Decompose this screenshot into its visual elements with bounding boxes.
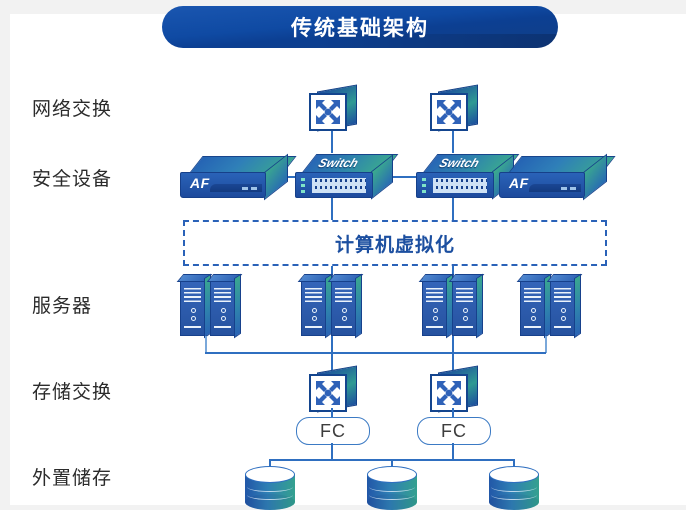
tower-indicator xyxy=(312,308,317,313)
switch-led xyxy=(301,184,305,187)
switch-led xyxy=(422,184,426,187)
tower-indicator xyxy=(531,316,536,321)
af-indicator-2 xyxy=(251,187,257,190)
fc-port-left[interactable]: FC xyxy=(296,417,370,445)
af-indicator-2 xyxy=(570,187,576,190)
row-label-server: 服务器 xyxy=(32,291,92,318)
tower-drive-bay xyxy=(184,326,201,328)
title-banner: 传统基础架构 xyxy=(162,6,558,48)
network-switch-icon xyxy=(432,95,466,129)
server-group-3[interactable] xyxy=(422,276,486,338)
external-storage-3[interactable] xyxy=(489,466,539,510)
network-switch-icon xyxy=(432,376,466,410)
disk-ring xyxy=(491,490,537,500)
tower-side xyxy=(234,274,241,339)
server-group-1[interactable] xyxy=(180,276,244,338)
core-switch-left[interactable] xyxy=(309,88,355,134)
connector-server-4-down xyxy=(545,336,547,353)
virtualization-box: 计算机虚拟化 xyxy=(183,220,607,266)
tower-drive-bay xyxy=(335,326,352,328)
server-storage-bus xyxy=(205,352,546,354)
switch-led-group xyxy=(301,178,305,196)
tower-indicator xyxy=(463,316,468,321)
tower-indicator xyxy=(221,308,226,313)
firewall-label: AF xyxy=(190,175,210,191)
tower-indicator xyxy=(531,308,536,313)
disk-top xyxy=(245,466,295,483)
switch-port-grid xyxy=(312,178,366,193)
server-group-2[interactable] xyxy=(301,276,365,338)
tower-vents xyxy=(184,285,201,302)
fc-label: FC xyxy=(441,421,467,442)
server-tower xyxy=(452,278,479,336)
switch-led-group xyxy=(422,178,426,196)
page-title: 传统基础架构 xyxy=(162,6,558,48)
server-group-4[interactable] xyxy=(520,276,584,338)
tower-indicator xyxy=(342,316,347,321)
external-storage-2[interactable] xyxy=(367,466,417,510)
tower-drive-bay xyxy=(214,326,231,328)
tower-indicator xyxy=(191,316,196,321)
tower-indicator xyxy=(433,316,438,321)
tower-vents xyxy=(426,285,443,302)
security-switch-left[interactable]: Switch xyxy=(295,154,391,202)
row-label-external-storage: 外置储存 xyxy=(32,463,112,490)
firewall-af-right[interactable]: AF xyxy=(499,156,607,200)
fc-label: FC xyxy=(320,421,346,442)
virtualization-label: 计算机虚拟化 xyxy=(335,230,455,257)
row-label-security: 安全设备 xyxy=(32,164,112,191)
tower-vents xyxy=(214,285,231,302)
server-tower xyxy=(180,278,207,336)
tower-vents xyxy=(305,285,322,302)
switch-label: Switch xyxy=(437,156,481,170)
server-tower xyxy=(331,278,358,336)
connector-server-2-to-storage-switch xyxy=(331,336,333,370)
tower-indicator xyxy=(561,316,566,321)
af-indicator-1 xyxy=(561,187,567,190)
row-label-storage-switch: 存储交换 xyxy=(32,377,112,404)
diagram-canvas: 传统基础架构 网络交换 安全设备 服务器 存储交换 外置储存 xyxy=(10,14,686,505)
tower-drive-bay xyxy=(524,326,541,328)
tower-vents xyxy=(335,285,352,302)
switch-led xyxy=(422,190,426,193)
tower-indicator xyxy=(561,308,566,313)
switch-led xyxy=(301,178,305,181)
disk-ring xyxy=(247,490,293,500)
connector-fc-left-down xyxy=(331,443,333,460)
server-tower xyxy=(520,278,547,336)
server-tower xyxy=(422,278,449,336)
row-label-network: 网络交换 xyxy=(32,94,112,121)
server-tower xyxy=(301,278,328,336)
tower-indicator xyxy=(463,308,468,313)
network-switch-icon xyxy=(311,376,345,410)
switch-led xyxy=(301,190,305,193)
tower-vents xyxy=(554,285,571,302)
switch-label: Switch xyxy=(316,156,360,170)
connector-server-3-to-storage-switch xyxy=(452,336,454,370)
disk-top xyxy=(367,466,417,483)
server-tower xyxy=(550,278,577,336)
connector-fc-right-down xyxy=(452,443,454,460)
disk-top xyxy=(489,466,539,483)
external-storage-1[interactable] xyxy=(245,466,295,510)
firewall-af-left[interactable]: AF xyxy=(180,156,288,200)
server-tower xyxy=(210,278,237,336)
switch-port-grid xyxy=(433,178,487,193)
tower-indicator xyxy=(342,308,347,313)
tower-indicator xyxy=(433,308,438,313)
firewall-label: AF xyxy=(509,175,529,191)
tower-side xyxy=(476,274,483,339)
tower-indicator xyxy=(221,316,226,321)
af-indicator-1 xyxy=(242,187,248,190)
network-switch-icon xyxy=(311,95,345,129)
tower-vents xyxy=(456,285,473,302)
tower-indicator xyxy=(191,308,196,313)
tower-indicator xyxy=(312,316,317,321)
tower-side xyxy=(355,274,362,339)
fc-port-right[interactable]: FC xyxy=(417,417,491,445)
security-switch-right[interactable]: Switch xyxy=(416,154,512,202)
disk-ring xyxy=(369,490,415,500)
tower-drive-bay xyxy=(305,326,322,328)
connector-server-1-down xyxy=(205,336,207,353)
tower-drive-bay xyxy=(426,326,443,328)
tower-vents xyxy=(524,285,541,302)
tower-side xyxy=(574,274,581,339)
switch-led xyxy=(422,178,426,181)
tower-drive-bay xyxy=(554,326,571,328)
core-switch-right[interactable] xyxy=(430,88,476,134)
tower-drive-bay xyxy=(456,326,473,328)
